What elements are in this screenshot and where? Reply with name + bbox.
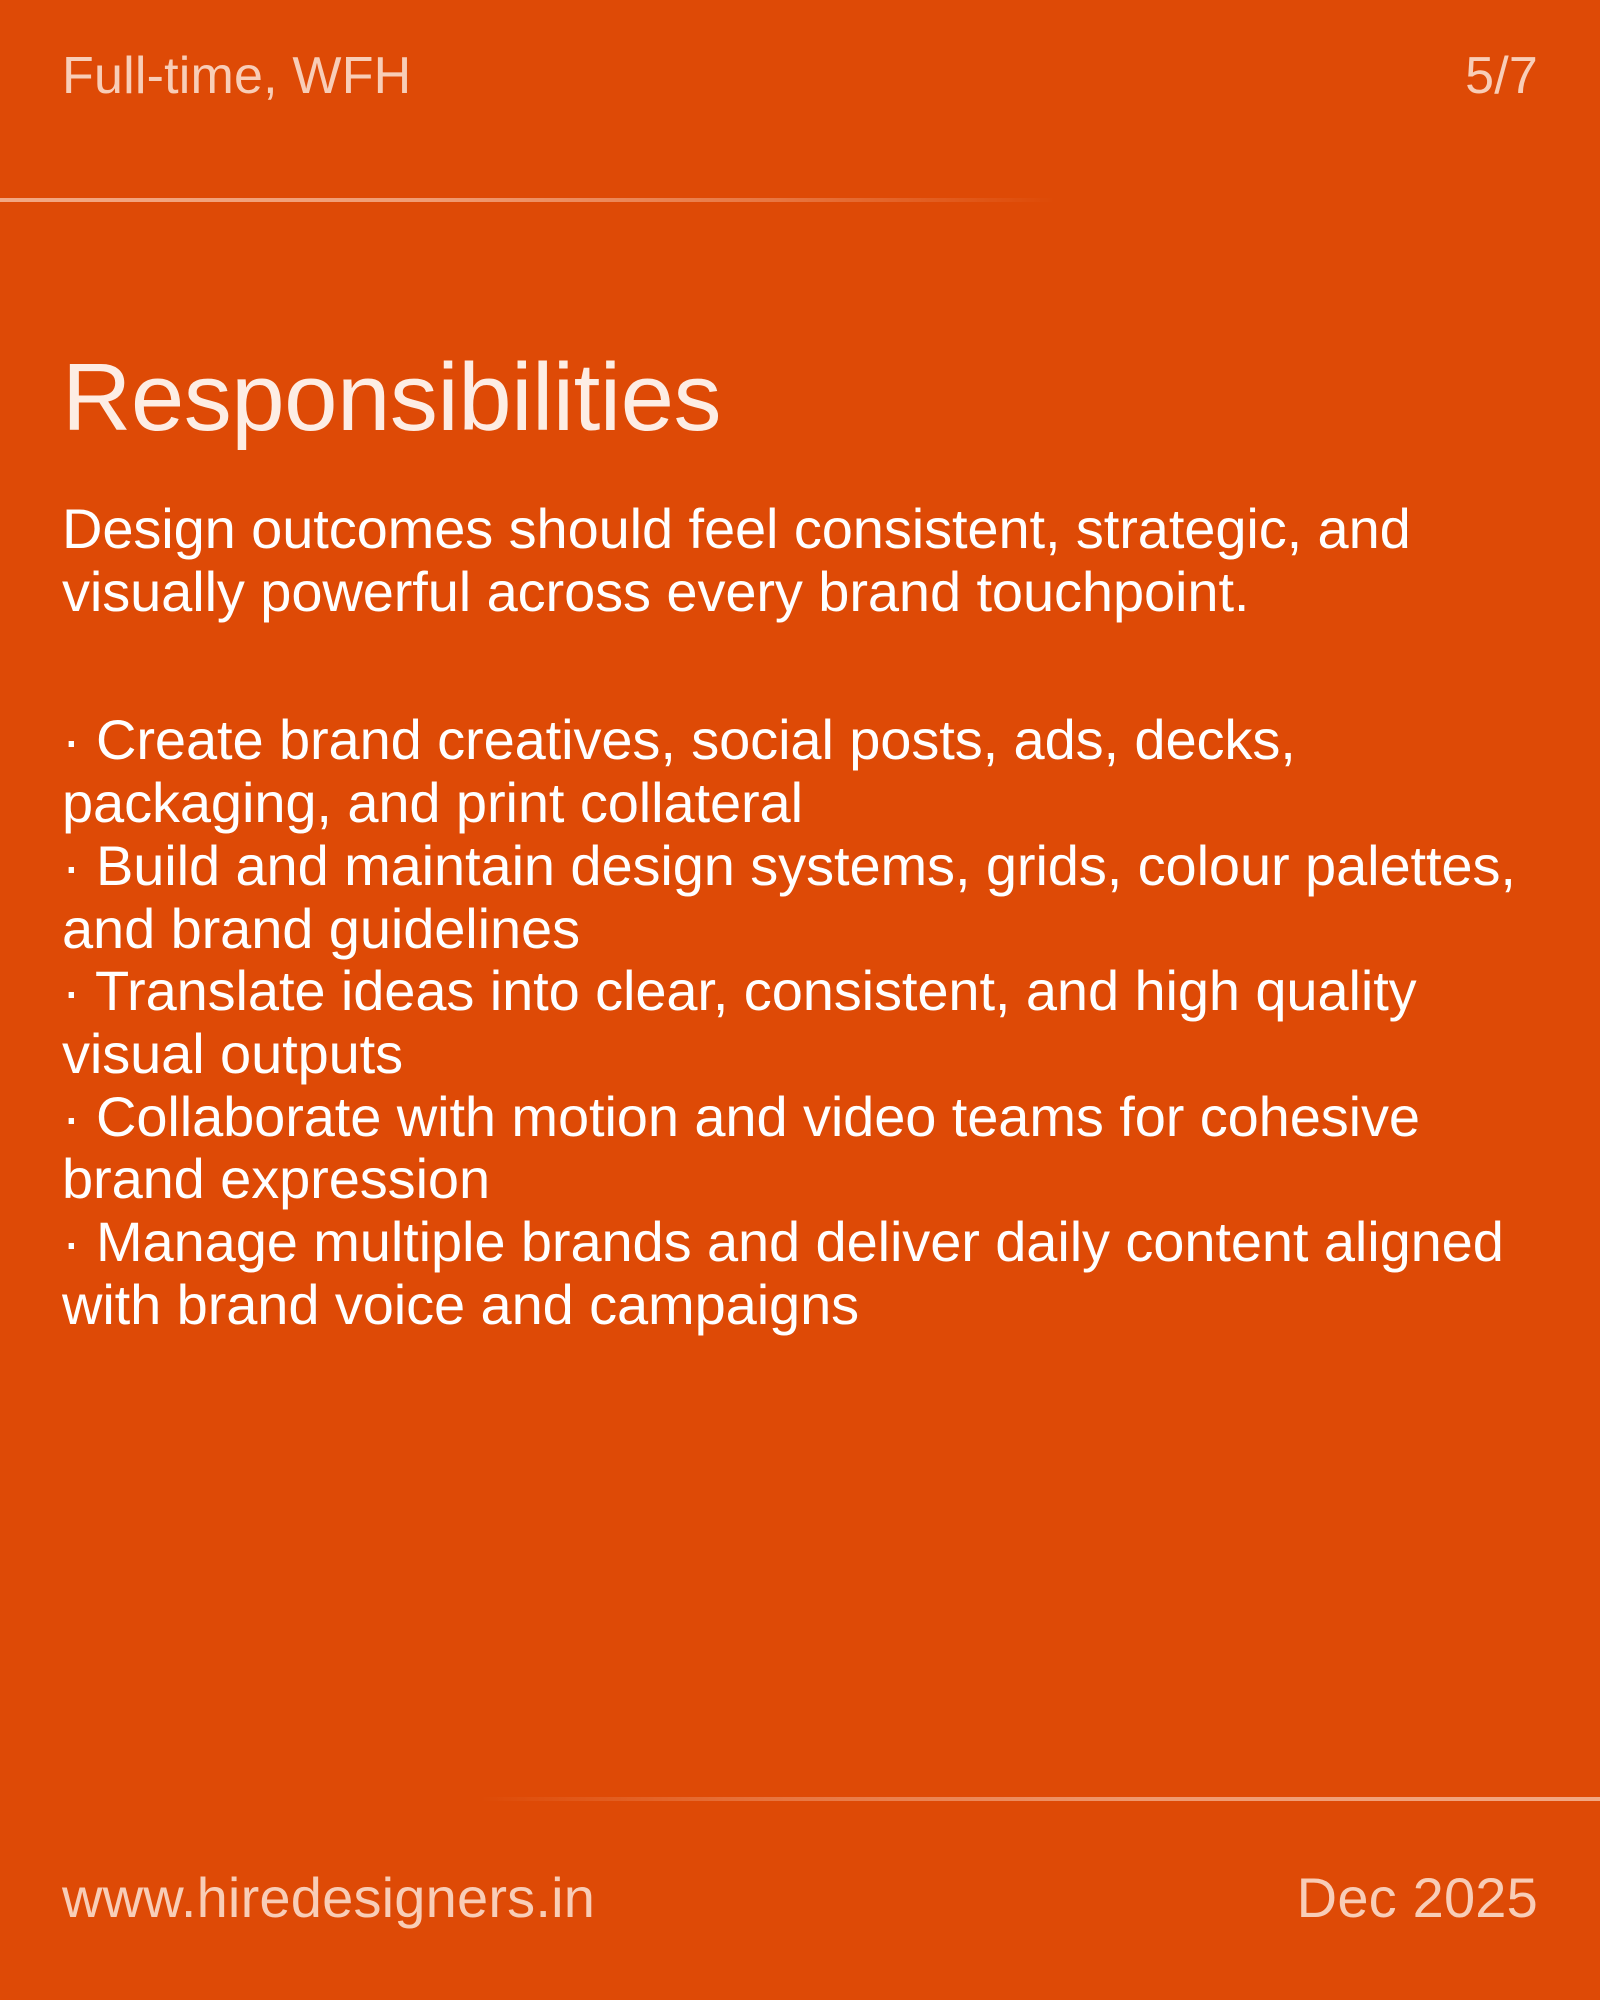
page-title: Responsibilities <box>62 350 1545 446</box>
website-link[interactable]: www.hiredesigners.in <box>62 1868 595 1928</box>
list-item: · Collaborate with motion and video team… <box>62 1086 1545 1211</box>
footer-divider <box>0 1797 1600 1801</box>
slide-footer: www.hiredesigners.in Dec 2025 <box>0 1797 1600 2000</box>
list-item: · Build and maintain design systems, gri… <box>62 835 1545 960</box>
slide-card: Full-time, WFH 5/7 Responsibilities Desi… <box>0 0 1600 2000</box>
header-divider <box>0 198 1600 202</box>
page-indicator: 5/7 <box>1465 48 1538 104</box>
responsibilities-list: · Create brand creatives, social posts, … <box>62 709 1545 1336</box>
list-item: · Manage multiple brands and deliver dai… <box>62 1211 1545 1336</box>
intro-paragraph: Design outcomes should feel consistent, … <box>62 498 1545 623</box>
job-type-meta: Full-time, WFH <box>62 48 411 104</box>
slide-header: Full-time, WFH 5/7 <box>0 0 1600 202</box>
footer-date: Dec 2025 <box>1297 1868 1538 1928</box>
list-item: · Translate ideas into clear, consistent… <box>62 960 1545 1085</box>
list-item: · Create brand creatives, social posts, … <box>62 709 1545 834</box>
slide-body: Responsibilities Design outcomes should … <box>0 202 1600 1797</box>
